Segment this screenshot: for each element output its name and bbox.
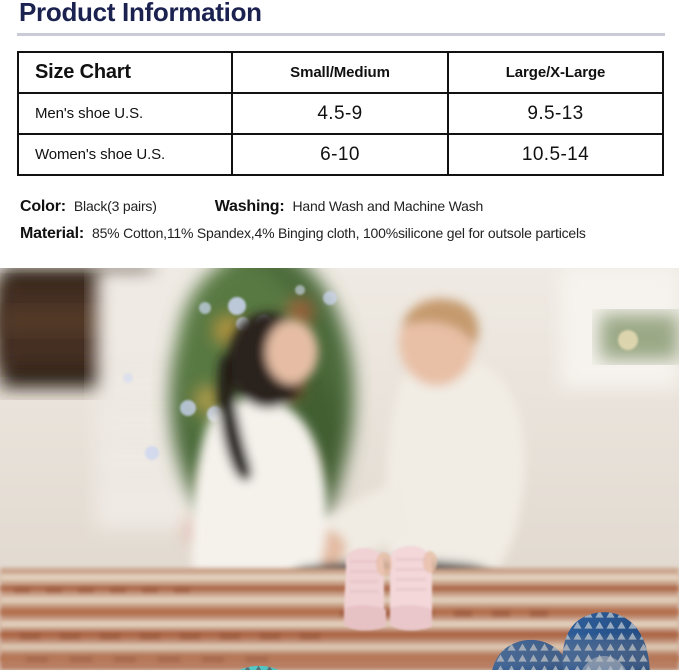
cell-mens-small-medium: 4.5-9 xyxy=(232,93,448,134)
cell-mens-large-xlarge: 9.5-13 xyxy=(448,93,663,134)
product-information-panel: Product Information Size Chart Small/Med… xyxy=(0,0,679,268)
cell-womens-small-medium: 6-10 xyxy=(232,134,448,175)
photo-illustration: Hylaea Hylaea Hylaea xyxy=(0,268,679,670)
spec-label-washing: Washing: xyxy=(215,198,285,216)
spec-row-color-washing: Color: Black(3 pairs) Washing: Hand Wash… xyxy=(20,198,670,216)
foreground-blur-overlay xyxy=(0,638,679,670)
table-row: Women's shoe U.S. 6-10 10.5-14 xyxy=(18,134,663,175)
cell-womens-large-xlarge: 10.5-14 xyxy=(448,134,663,175)
baby-booties xyxy=(344,546,437,630)
page-title: Product Information xyxy=(19,0,262,28)
row-label-womens-shoe: Women's shoe U.S. xyxy=(18,134,232,175)
column-header-small-medium: Small/Medium xyxy=(232,52,448,93)
size-chart-table: Size Chart Small/Medium Large/X-Large Me… xyxy=(17,51,664,176)
spec-value-washing: Hand Wash and Machine Wash xyxy=(293,198,484,214)
lifestyle-product-photo: Hylaea Hylaea Hylaea xyxy=(0,268,679,670)
spec-value-material: 85% Cotton,11% Spandex,4% Binging cloth,… xyxy=(92,225,586,241)
row-label-mens-shoe: Men's shoe U.S. xyxy=(18,93,232,134)
column-header-large-xlarge: Large/X-Large xyxy=(448,52,663,93)
title-divider xyxy=(17,33,665,36)
table-header-row: Size Chart Small/Medium Large/X-Large xyxy=(18,52,663,93)
spec-label-material: Material: xyxy=(20,225,84,243)
spec-label-color: Color: xyxy=(20,198,66,216)
specifications-block: Color: Black(3 pairs) Washing: Hand Wash… xyxy=(20,198,670,252)
spec-row-material: Material: 85% Cotton,11% Spandex,4% Bing… xyxy=(20,225,670,243)
spec-value-color: Black(3 pairs) xyxy=(74,198,157,214)
table-row: Men's shoe U.S. 4.5-9 9.5-13 xyxy=(18,93,663,134)
size-chart-title-cell: Size Chart xyxy=(18,52,232,93)
